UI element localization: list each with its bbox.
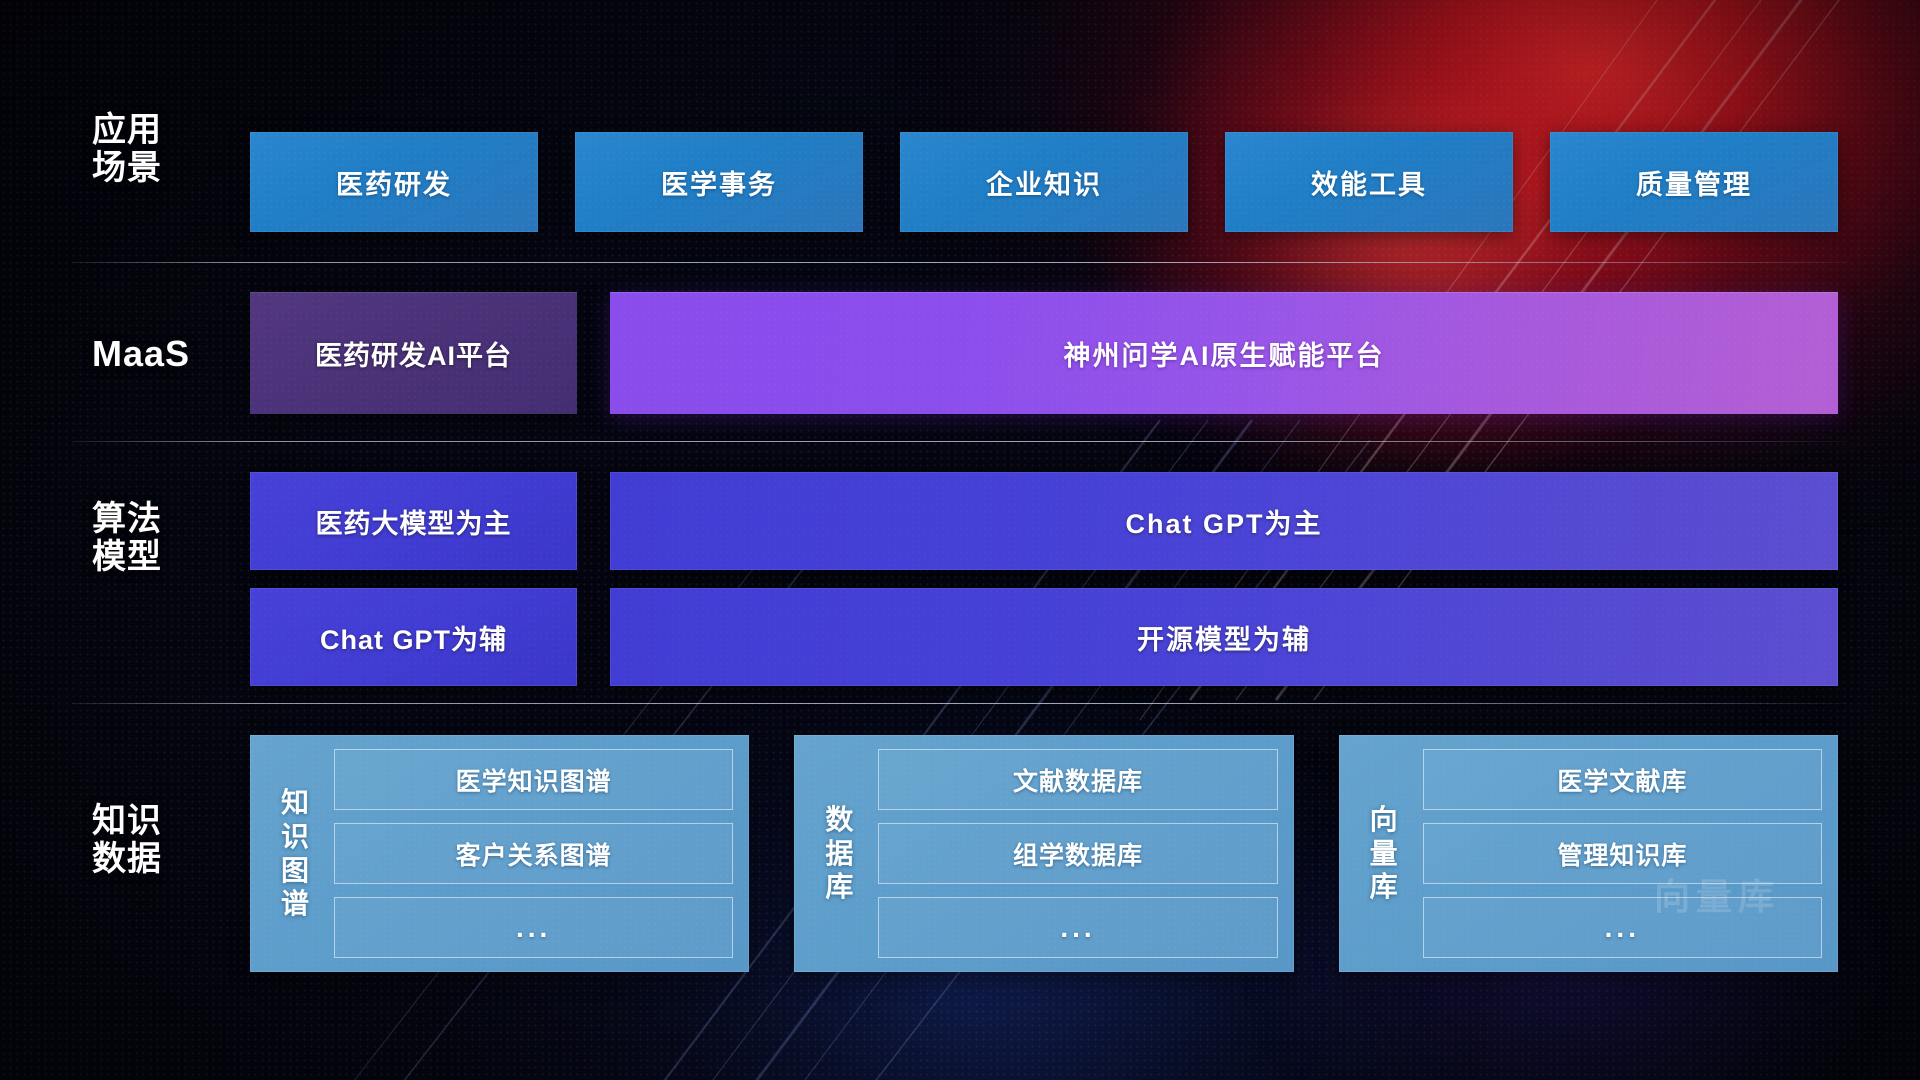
app-box-quality-management[interactable]: 质量管理 xyxy=(1550,132,1838,232)
knowledge-item-list: 医学知识图谱 客户关系图谱 ... xyxy=(328,749,733,958)
maas-box-medicine-ai-platform[interactable]: 医药研发AI平台 xyxy=(250,292,577,414)
knowledge-panel-database: 数 据 库 文献数据库 组学数据库 ... xyxy=(794,735,1293,972)
algo-box-opensource-secondary[interactable]: 开源模型为辅 xyxy=(610,588,1838,686)
maas-box-label: 医药研发AI平台 xyxy=(315,334,512,373)
vertical-char: 图 xyxy=(281,855,309,887)
app-box-label: 医药研发 xyxy=(336,163,452,202)
algo-box-label: 医药大模型为主 xyxy=(316,502,512,541)
app-box-label: 企业知识 xyxy=(986,163,1102,202)
architecture-diagram: 应用 场景 医药研发 医学事务 企业知识 效能工具 质量管理 MaaS 医药研发… xyxy=(0,0,1920,1080)
algo-box-label: 开源模型为辅 xyxy=(1137,618,1311,657)
knowledge-item-management-kb[interactable]: 管理知识库 xyxy=(1423,823,1822,884)
knowledge-panel-vector-db: 向 量 库 医学文献库 管理知识库 ... 向量库 xyxy=(1339,735,1838,972)
algorithm-row-primary: 医药大模型为主 Chat GPT为主 xyxy=(250,472,1838,570)
row-label-application: 应用 场景 xyxy=(92,111,242,187)
knowledge-item-more[interactable]: ... xyxy=(1423,897,1822,958)
divider-after-maas xyxy=(72,441,1848,442)
row-label-line: 应用 xyxy=(92,111,242,149)
app-box-efficiency-tools[interactable]: 效能工具 xyxy=(1225,132,1513,232)
algorithm-row-secondary: Chat GPT为辅 开源模型为辅 xyxy=(250,588,1838,686)
algo-box-medicine-llm-primary[interactable]: 医药大模型为主 xyxy=(250,472,577,570)
row-label-line: 算法 xyxy=(92,500,242,538)
algo-box-chatgpt-secondary[interactable]: Chat GPT为辅 xyxy=(250,588,577,686)
vertical-char: 谱 xyxy=(281,888,309,920)
knowledge-row: 知 识 图 谱 医学知识图谱 客户关系图谱 ... 数 据 库 文献数据库 组学… xyxy=(250,735,1838,972)
vertical-char: 数 xyxy=(825,804,853,836)
knowledge-item-medical-literature[interactable]: 医学文献库 xyxy=(1423,749,1822,810)
maas-box-shenzhou-platform[interactable]: 神州问学AI原生赋能平台 xyxy=(610,292,1838,414)
application-row: 医药研发 医学事务 企业知识 效能工具 质量管理 xyxy=(250,132,1838,232)
vertical-char: 库 xyxy=(1370,871,1398,903)
knowledge-panel-title-vector-db: 向 量 库 xyxy=(1351,749,1417,958)
vertical-char: 据 xyxy=(825,838,853,870)
knowledge-item-more[interactable]: ... xyxy=(878,897,1277,958)
row-label-line: 知识 xyxy=(92,802,242,840)
knowledge-item-list: 医学文献库 管理知识库 ... xyxy=(1417,749,1822,958)
knowledge-item-more[interactable]: ... xyxy=(334,897,733,958)
algo-box-label: Chat GPT为主 xyxy=(1125,502,1322,541)
knowledge-item-list: 文献数据库 组学数据库 ... xyxy=(872,749,1277,958)
algo-box-label: Chat GPT为辅 xyxy=(320,618,507,657)
knowledge-item-literature-db[interactable]: 文献数据库 xyxy=(878,749,1277,810)
app-box-label: 效能工具 xyxy=(1311,163,1427,202)
knowledge-panel-knowledge-graph: 知 识 图 谱 医学知识图谱 客户关系图谱 ... xyxy=(250,735,749,972)
vertical-char: 库 xyxy=(825,871,853,903)
knowledge-item-medical-kg[interactable]: 医学知识图谱 xyxy=(334,749,733,810)
app-box-label: 医学事务 xyxy=(661,163,777,202)
row-label-line: 数据 xyxy=(92,840,242,878)
app-box-enterprise-knowledge[interactable]: 企业知识 xyxy=(900,132,1188,232)
maas-row: 医药研发AI平台 神州问学AI原生赋能平台 xyxy=(250,292,1838,414)
app-box-label: 质量管理 xyxy=(1636,163,1752,202)
divider-after-application xyxy=(72,262,1848,263)
vertical-char: 向 xyxy=(1370,804,1398,836)
vertical-char: 量 xyxy=(1370,838,1398,870)
knowledge-panel-title-knowledge-graph: 知 识 图 谱 xyxy=(262,749,328,958)
row-label-maas: MaaS xyxy=(92,334,242,374)
algo-box-chatgpt-primary[interactable]: Chat GPT为主 xyxy=(610,472,1838,570)
knowledge-item-omics-db[interactable]: 组学数据库 xyxy=(878,823,1277,884)
divider-after-algorithm xyxy=(72,703,1848,704)
vertical-char: 知 xyxy=(281,787,309,819)
knowledge-item-customer-kg[interactable]: 客户关系图谱 xyxy=(334,823,733,884)
app-box-medicine-rd[interactable]: 医药研发 xyxy=(250,132,538,232)
row-label-knowledge: 知识 数据 xyxy=(92,802,242,878)
app-box-medical-affairs[interactable]: 医学事务 xyxy=(575,132,863,232)
vertical-char: 识 xyxy=(281,821,309,853)
maas-box-label: 神州问学AI原生赋能平台 xyxy=(1064,334,1385,373)
row-label-line: 模型 xyxy=(92,538,242,576)
row-label-line: 场景 xyxy=(92,149,242,187)
row-label-line: MaaS xyxy=(92,334,242,374)
row-label-algorithm: 算法 模型 xyxy=(92,500,242,576)
knowledge-panel-title-database: 数 据 库 xyxy=(806,749,872,958)
